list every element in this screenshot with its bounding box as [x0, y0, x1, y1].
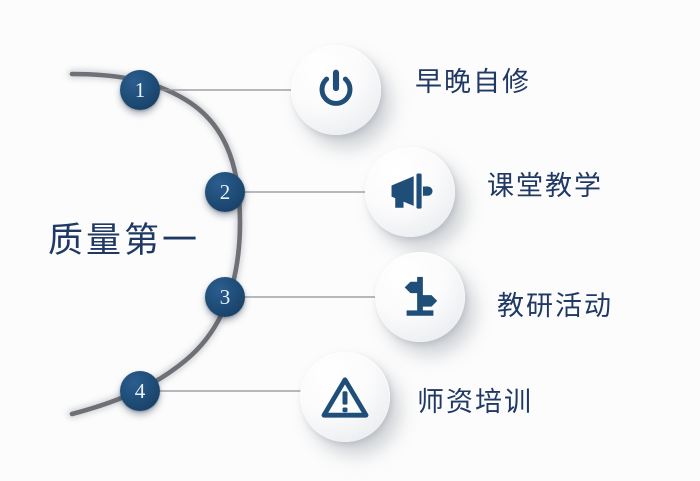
page-title: 质量第一 — [48, 212, 200, 263]
item-label-2: 课堂教学 — [487, 164, 603, 203]
icon-card-4[interactable] — [300, 352, 390, 442]
item-label-3: 教研活动 — [497, 284, 613, 323]
step-node-2[interactable]: 2 — [205, 172, 245, 212]
icon-card-3[interactable] — [375, 252, 465, 342]
icon-card-1[interactable] — [291, 45, 381, 135]
item-label-1: 早晚自修 — [415, 60, 531, 99]
step-node-1[interactable]: 1 — [120, 70, 160, 110]
step-node-3[interactable]: 3 — [205, 277, 245, 317]
signpost-icon — [398, 274, 442, 320]
warning-triangle-icon — [321, 375, 369, 419]
megaphone-icon — [386, 170, 434, 214]
item-label-4: 师资培训 — [417, 380, 533, 419]
step-node-4[interactable]: 4 — [120, 371, 160, 411]
power-icon — [313, 67, 359, 113]
slide-canvas: 质量第一 1 2 3 4 — [0, 0, 700, 481]
icon-card-2[interactable] — [365, 147, 455, 237]
